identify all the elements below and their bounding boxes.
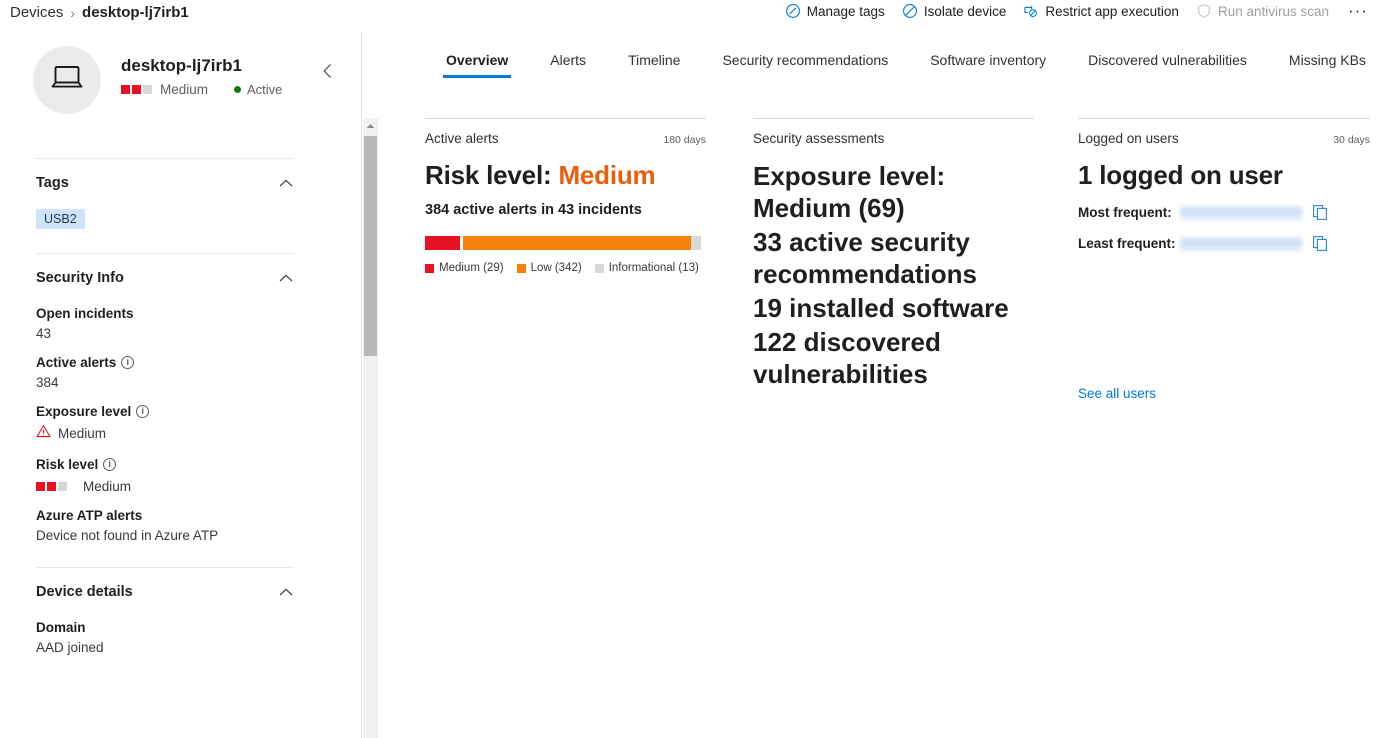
field-exposure-level: Exposure level i Medium (36, 390, 294, 443)
card-title: Active alerts (425, 131, 499, 146)
action-toolbar: Manage tags Isolate device Restrict app … (785, 3, 1370, 19)
field-risk-level: Risk level i Medium (36, 443, 294, 494)
tab-software-inventory[interactable]: Software inventory (909, 52, 1067, 78)
card-logged-on-users: Logged on users 30 days 1 logged on user… (1078, 118, 1370, 390)
card-period-label: 180 days (663, 134, 706, 146)
exposure-level-headline: Exposure level: Medium (69) (753, 160, 1034, 224)
exposure-headline-prefix: Exposure level: (753, 161, 945, 191)
field-label: Exposure level (36, 404, 131, 419)
restrict-app-execution-label: Restrict app execution (1045, 4, 1179, 19)
severity-legend: Medium (29) Low (342) Informational (13) (425, 262, 706, 274)
scrollbar-thumb[interactable] (364, 136, 377, 356)
run-antivirus-scan-label: Run antivirus scan (1218, 4, 1329, 19)
field-active-alerts: Active alerts i 384 (36, 341, 294, 390)
risk-level-headline: Risk level: Medium (425, 160, 706, 190)
tab-discovered-vulnerabilities[interactable]: Discovered vulnerabilities (1067, 52, 1268, 78)
exposure-level-value: Medium (58, 426, 106, 441)
scroll-up-button[interactable] (363, 118, 378, 134)
risk-level-value: Medium (83, 479, 131, 494)
legend-label: Medium (29) (439, 262, 504, 274)
overview-cards: Active alerts 180 days Risk level: Mediu… (425, 118, 1375, 390)
tag-chip[interactable]: USB2 (36, 209, 85, 229)
field-value: 43 (36, 326, 294, 341)
logged-on-users-headline: 1 logged on user (1078, 160, 1370, 190)
risk-level-value-row: Medium (36, 479, 294, 494)
manage-tags-button[interactable]: Manage tags (785, 3, 885, 19)
legend-item: Medium (29) (425, 262, 504, 274)
least-frequent-value-redacted (1180, 236, 1302, 252)
chevron-left-icon (321, 62, 335, 85)
card-security-assessments: Security assessments Exposure level: Med… (753, 118, 1034, 390)
field-value: Device not found in Azure ATP (36, 528, 294, 543)
breadcrumb: Devices › desktop-lj7irb1 (10, 4, 189, 21)
installed-software-line[interactable]: 19 installed software (753, 292, 1034, 324)
collapse-panel-button[interactable] (315, 60, 341, 86)
legend-item: Informational (13) (595, 262, 699, 274)
see-all-users-link[interactable]: See all users (1078, 386, 1156, 401)
field-azure-atp-alerts: Azure ATP alerts Device not found in Azu… (36, 494, 294, 543)
copy-icon[interactable] (1312, 235, 1329, 252)
severity-stacked-bar (425, 236, 701, 250)
card-header: Security assessments (753, 131, 1034, 146)
device-status-row: Medium Active (121, 82, 282, 97)
legend-label: Informational (13) (609, 262, 699, 274)
device-meta: desktop-lj7irb1 Medium Active (121, 46, 282, 97)
legend-swatch-low (517, 264, 526, 273)
breadcrumb-parent-link[interactable]: Devices (10, 4, 63, 21)
chevron-up-icon[interactable] (278, 178, 294, 188)
tab-overview[interactable]: Overview (425, 52, 529, 78)
bar-segment-medium (425, 236, 460, 250)
warning-triangle-icon (36, 424, 51, 443)
info-icon[interactable]: i (136, 405, 149, 418)
bar-segment-low (463, 236, 691, 250)
active-recommendations-line[interactable]: 33 active security recommendations (753, 226, 1034, 290)
breadcrumb-current: desktop-lj7irb1 (82, 4, 189, 21)
copy-icon[interactable] (1312, 204, 1329, 221)
restrict-app-execution-button[interactable]: Restrict app execution (1023, 3, 1179, 19)
tab-bar: Overview Alerts Timeline Security recomm… (425, 52, 1382, 78)
info-icon[interactable]: i (121, 356, 134, 369)
device-health-label: Active (247, 82, 282, 97)
legend-label: Low (342) (531, 262, 582, 274)
field-label: Active alerts (36, 355, 116, 370)
tab-missing-kbs[interactable]: Missing KBs (1268, 52, 1382, 78)
laptop-icon (47, 61, 87, 100)
tab-alerts[interactable]: Alerts (529, 52, 607, 78)
block-circle-icon (902, 3, 918, 19)
section-header-security-info[interactable]: Security Info (36, 254, 294, 292)
field-open-incidents: Open incidents 43 (36, 292, 294, 341)
field-label-row: Active alerts i (36, 355, 294, 370)
chevron-up-icon[interactable] (278, 273, 294, 283)
legend-item: Low (342) (517, 262, 582, 274)
field-label: Risk level (36, 457, 98, 472)
risk-squares-icon (121, 85, 152, 94)
tag-icon (785, 3, 801, 19)
avatar (33, 46, 101, 114)
section-title-tags: Tags (36, 175, 69, 191)
isolate-device-button[interactable]: Isolate device (902, 3, 1007, 19)
field-value: 384 (36, 375, 294, 390)
section-title-security-info: Security Info (36, 270, 124, 286)
card-title: Security assessments (753, 131, 884, 146)
device-name: desktop-lj7irb1 (121, 56, 282, 76)
bar-segment-informational (691, 236, 701, 250)
most-frequent-label: Most frequent: (1078, 205, 1180, 220)
legend-swatch-medium (425, 264, 434, 273)
run-antivirus-scan-button: Run antivirus scan (1196, 3, 1329, 19)
exposure-headline-value: Medium (69) (753, 193, 905, 223)
card-header: Logged on users 30 days (1078, 131, 1370, 146)
main-content: Overview Alerts Timeline Security recomm… (379, 32, 1382, 738)
field-label-row: Exposure level i (36, 404, 294, 419)
field-domain: Domain AAD joined (36, 606, 294, 655)
field-label: Domain (36, 620, 294, 635)
app-restrict-icon (1023, 3, 1039, 19)
section-header-tags[interactable]: Tags (36, 159, 294, 197)
tab-timeline[interactable]: Timeline (607, 52, 701, 78)
most-frequent-value-redacted (1180, 205, 1302, 221)
most-frequent-user-row: Most frequent: (1078, 204, 1370, 221)
section-header-device-details[interactable]: Device details (36, 568, 294, 606)
field-label: Open incidents (36, 306, 294, 321)
card-header: Active alerts 180 days (425, 131, 706, 146)
section-title-device-details: Device details (36, 584, 133, 600)
chevron-up-icon[interactable] (278, 587, 294, 597)
risk-level-headline-prefix: Risk level: (425, 160, 558, 190)
sidebar-sections: Tags USB2 Security Info Open incidents 4… (0, 158, 330, 655)
info-icon[interactable]: i (103, 458, 116, 471)
field-label: Azure ATP alerts (36, 508, 294, 523)
device-side-panel: desktop-lj7irb1 Medium Active (0, 32, 362, 738)
field-value: AAD joined (36, 640, 294, 655)
manage-tags-label: Manage tags (807, 4, 885, 19)
status-dot-icon (234, 86, 241, 93)
device-risk-label: Medium (160, 82, 208, 97)
isolate-device-label: Isolate device (924, 4, 1007, 19)
card-period-label: 30 days (1333, 134, 1370, 146)
sidebar-scrollbar[interactable] (363, 118, 378, 738)
legend-swatch-informational (595, 264, 604, 273)
device-risk-indicator: Medium (121, 82, 208, 97)
tab-security-recommendations[interactable]: Security recommendations (701, 52, 909, 78)
exposure-value-row: Medium (36, 424, 294, 443)
breadcrumb-separator-icon: › (70, 5, 75, 21)
risk-level-headline-value: Medium (558, 160, 655, 190)
device-header: desktop-lj7irb1 Medium Active (33, 46, 282, 114)
card-active-alerts: Active alerts 180 days Risk level: Mediu… (425, 118, 706, 390)
device-health-status: Active (234, 82, 282, 97)
more-actions-button[interactable]: ··· (1346, 5, 1370, 17)
least-frequent-user-row: Least frequent: (1078, 235, 1370, 252)
discovered-vulnerabilities-line[interactable]: 122 discovered vulnerabilities (753, 326, 1034, 390)
shield-icon (1196, 3, 1212, 19)
risk-squares-icon (36, 482, 67, 491)
active-alerts-summary: 384 active alerts in 43 incidents (425, 202, 706, 218)
field-label-row: Risk level i (36, 457, 294, 472)
least-frequent-label: Least frequent: (1078, 236, 1180, 251)
tag-list: USB2 (36, 209, 294, 231)
card-title: Logged on users (1078, 131, 1179, 146)
top-bar: Devices › desktop-lj7irb1 Manage tags Is… (0, 0, 1382, 32)
